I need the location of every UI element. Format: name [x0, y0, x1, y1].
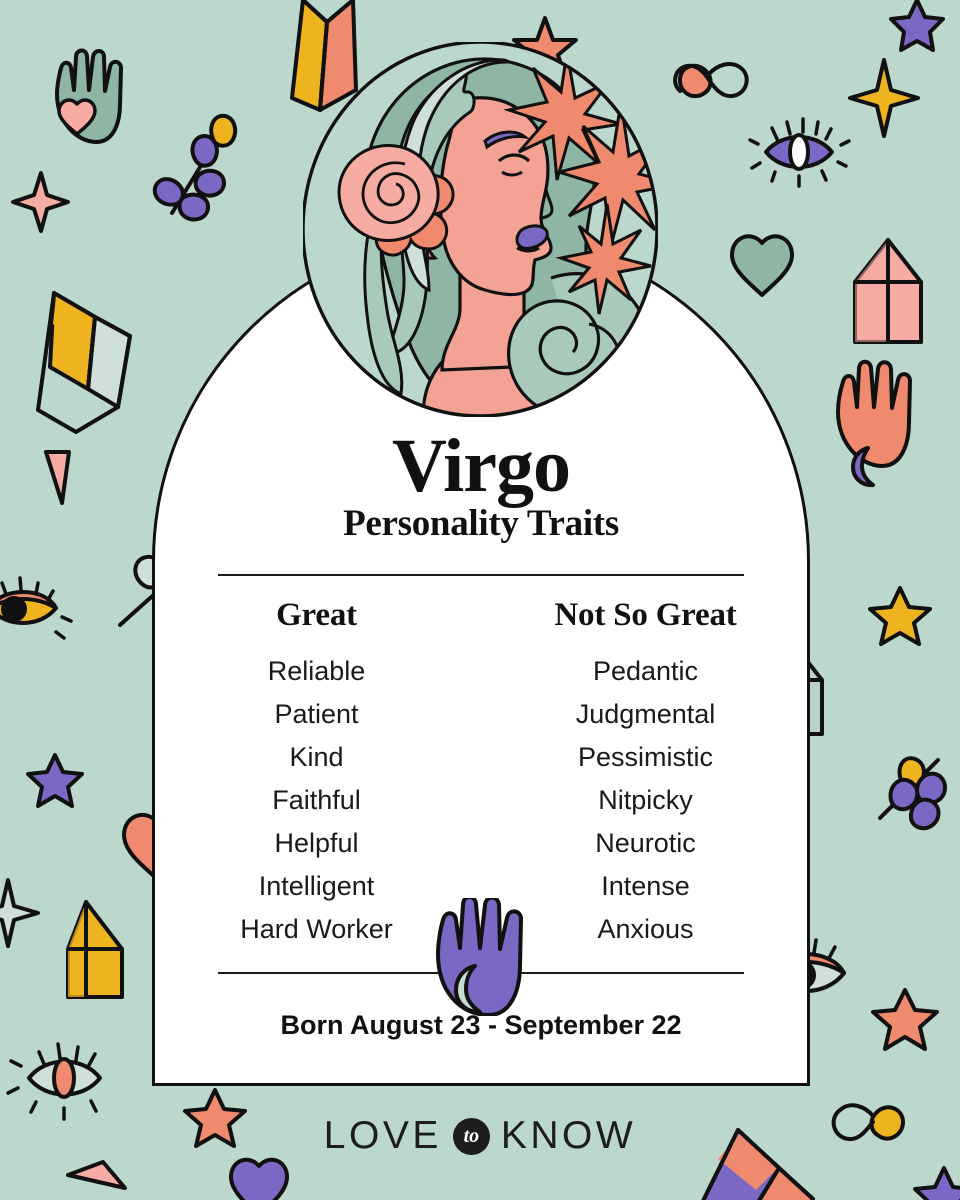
- hand-heart-icon: [57, 50, 121, 142]
- trait-item: Faithful: [152, 779, 481, 822]
- page-subtitle: Personality Traits: [152, 504, 810, 544]
- trait-item: Helpful: [152, 822, 481, 865]
- crystal-icon: [38, 293, 130, 432]
- crystal-icon: [855, 240, 921, 342]
- virgo-personality-poster: Virgo Personality Traits Great Reliable …: [0, 0, 960, 1200]
- logo-badge-label: to: [464, 1126, 480, 1146]
- infinity-icon: [675, 64, 747, 96]
- sparkle-icon: [850, 60, 918, 136]
- star-icon: [891, 0, 943, 50]
- heart-icon: [231, 1160, 287, 1200]
- column-heading-great: Great: [152, 596, 481, 634]
- trait-item: Kind: [152, 736, 481, 779]
- trait-item: Nitpicky: [481, 779, 810, 822]
- triangle-icon: [68, 1162, 125, 1188]
- trait-item: Pessimistic: [481, 736, 810, 779]
- logo-word-know: KNOW: [501, 1114, 636, 1158]
- leaf-branch-icon: [155, 116, 235, 220]
- star-icon: [28, 755, 82, 806]
- eye-icon: [0, 578, 71, 638]
- sparkle-icon: [0, 880, 38, 946]
- six-point-star-icon: [13, 173, 68, 231]
- logo-badge-to: to: [453, 1118, 490, 1155]
- lovetoknow-logo[interactable]: LOVE to KNOW: [0, 1108, 960, 1164]
- column-heading-not-so-great: Not So Great: [481, 596, 810, 634]
- star-icon: [870, 588, 930, 644]
- leaf-branch-icon: [880, 758, 945, 828]
- trait-item: Pedantic: [481, 650, 810, 693]
- trait-item: Neurotic: [481, 822, 810, 865]
- star-icon: [873, 990, 937, 1049]
- trait-item: Patient: [152, 693, 481, 736]
- page-title: Virgo: [152, 428, 810, 504]
- logo-word-love: LOVE: [324, 1114, 442, 1158]
- trait-item: Reliable: [152, 650, 481, 693]
- triangle-icon: [46, 452, 69, 503]
- hand-moon-icon: [430, 898, 538, 1016]
- hand-moon-icon: [838, 362, 910, 485]
- trait-item: Judgmental: [481, 693, 810, 736]
- crystal-icon: [68, 902, 122, 997]
- divider-top: [218, 574, 744, 576]
- star-icon: [915, 1168, 960, 1200]
- eye-icon: [750, 119, 849, 186]
